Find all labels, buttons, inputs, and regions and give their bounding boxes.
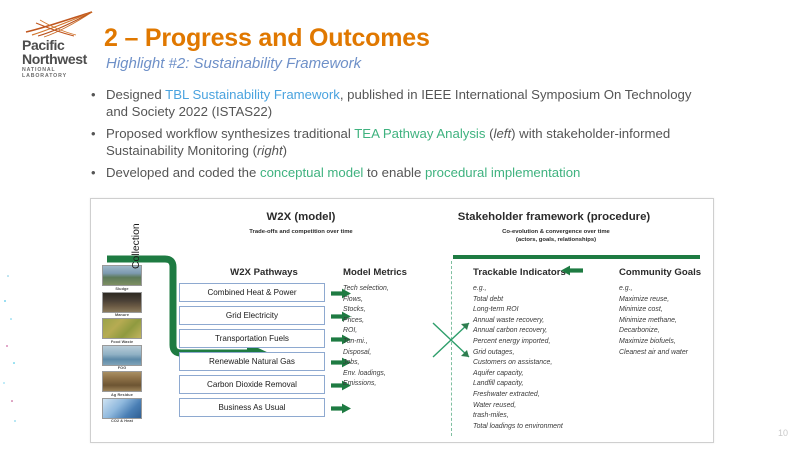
- bullet-text-segment: conceptual model: [260, 165, 363, 180]
- trackable-indicator-item: Customers on assistance,: [473, 358, 633, 369]
- stakeholder-panel-subtitle: Co-evolution & convergence over time (ac…: [451, 228, 661, 244]
- bullet-text-segment: TEA Pathway Analysis: [354, 126, 485, 141]
- feedstock-image: [102, 318, 142, 339]
- trackable-indicator-item: Percent energy imported,: [473, 337, 633, 348]
- community-goal-item: Minimize methane,: [619, 316, 749, 327]
- collection-label: Collection: [131, 223, 142, 269]
- model-metric-item: Disposal,: [343, 348, 443, 359]
- model-metric-item: Emissions,: [343, 379, 443, 390]
- model-metrics-list: Tech selection,Flows,Stocks,Prices,ROI,T…: [343, 284, 443, 390]
- pathway-box[interactable]: Renewable Natural Gas: [179, 352, 325, 371]
- slide-title: 2 – Progress and Outcomes: [104, 24, 430, 53]
- pathway-row: Transportation Fuels: [179, 329, 354, 351]
- green-divider-bar: [453, 255, 700, 259]
- community-goal-item: Maximize reuse,: [619, 295, 749, 306]
- feedstock-label: FOG: [99, 366, 145, 370]
- feedstock-item: FOG: [99, 345, 145, 371]
- pathway-box[interactable]: Combined Heat & Power: [179, 283, 325, 302]
- bullet-text-segment: procedural implementation: [425, 165, 580, 180]
- pathway-arrow-icon: [331, 401, 351, 412]
- pathway-box[interactable]: Grid Electricity: [179, 306, 325, 325]
- bullet-text-segment: ): [283, 143, 287, 158]
- feedstock-image: [102, 371, 142, 392]
- bullet-text-segment: Developed and coded the: [106, 165, 260, 180]
- pathway-box-list: Combined Heat & PowerGrid ElectricityTra…: [179, 283, 354, 421]
- bullet-text-segment: Proposed workflow synthesizes traditiona…: [106, 126, 354, 141]
- bullet-text-segment: (: [485, 126, 493, 141]
- slide-subtitle: Highlight #2: Sustainability Framework: [106, 55, 361, 72]
- bullet-item: •Designed TBL Sustainability Framework, …: [88, 86, 708, 120]
- pathway-box[interactable]: Transportation Fuels: [179, 329, 325, 348]
- bullet-dot-icon: •: [91, 164, 96, 181]
- trackable-indicator-item: Grid outages,: [473, 348, 633, 359]
- pathway-row: Combined Heat & Power: [179, 283, 354, 305]
- convergence-cross-arrows-icon: [429, 317, 475, 363]
- model-metric-item: Tech selection,: [343, 284, 443, 295]
- feedstock-item: Manure: [99, 292, 145, 318]
- pnnl-swoosh-icon: [22, 10, 102, 40]
- model-metric-item: Env. loadings,: [343, 369, 443, 380]
- pathway-row: Business As Usual: [179, 398, 354, 420]
- trackable-indicator-item: Long-term ROI: [473, 305, 633, 316]
- community-goal-item: e.g.,: [619, 284, 749, 295]
- slide-number: 10: [778, 428, 788, 438]
- feedstock-label: Sludge: [99, 287, 145, 291]
- pnnl-logo: Pacific Northwest NATIONAL LABORATORY: [22, 10, 102, 72]
- community-goal-item: Decarbonize,: [619, 326, 749, 337]
- model-metric-item: ROI,: [343, 326, 443, 337]
- bullet-text-segment: left: [494, 126, 512, 141]
- feedstock-image: [102, 292, 142, 313]
- pathways-header: W2X Pathways: [179, 267, 349, 278]
- stakeholder-subtitle-line1: Co-evolution & convergence over time: [502, 229, 610, 235]
- community-goal-item: Minimize cost,: [619, 305, 749, 316]
- logo-text-national-laboratory: NATIONAL LABORATORY: [22, 67, 102, 79]
- feedstock-image: [102, 398, 142, 419]
- model-metrics-header: Model Metrics: [343, 267, 453, 278]
- logo-text-pacific: Pacific: [22, 38, 64, 52]
- model-metric-item: Stocks,: [343, 305, 443, 316]
- model-metric-item: Flows,: [343, 295, 443, 306]
- feedstock-label: Manure: [99, 313, 145, 317]
- trackable-indicator-item: Water reused,: [473, 401, 633, 412]
- pathway-box[interactable]: Carbon Dioxide Removal: [179, 375, 325, 394]
- bullet-text-segment: Designed: [106, 87, 165, 102]
- model-metric-item: Ton-mi.,: [343, 337, 443, 348]
- bullet-list: •Designed TBL Sustainability Framework, …: [88, 86, 708, 186]
- goals-to-indicators-arrow-icon: [561, 265, 583, 276]
- feedstock-item: Food Waste: [99, 318, 145, 344]
- trackable-indicator-item: Total debt: [473, 295, 633, 306]
- feedstock-label: Food Waste: [99, 340, 145, 344]
- bullet-text-segment: to enable: [363, 165, 425, 180]
- feedstock-label: CO2 & Heat: [99, 419, 145, 423]
- strip-divider: [18, 0, 20, 450]
- feedstock-item: CO2 & Heat: [99, 398, 145, 424]
- feedstock-label: Ag Residue: [99, 393, 145, 397]
- w2x-panel-title: W2X (model): [201, 211, 401, 223]
- bullet-item: •Proposed workflow synthesizes tradition…: [88, 125, 708, 159]
- trackable-indicator-item: e.g.,: [473, 284, 633, 295]
- stakeholder-subtitle-line2: (actors, goals, relationships): [516, 237, 596, 243]
- model-metric-item: Prices,: [343, 316, 443, 327]
- bullet-text-segment: right: [257, 143, 283, 158]
- trackable-indicator-item: trash-miles,: [473, 411, 633, 422]
- decorative-edge-strip: [0, 0, 18, 450]
- trackable-indicators-list: e.g.,Total debtLong-term ROIAnnual waste…: [473, 284, 633, 432]
- bullet-dot-icon: •: [91, 86, 96, 103]
- model-metric-item: Jobs,: [343, 358, 443, 369]
- feedstock-image: [102, 345, 142, 366]
- pathway-row: Renewable Natural Gas: [179, 352, 354, 374]
- trackable-indicator-item: Total loadings to environment: [473, 422, 633, 433]
- logo-text-northwest: Northwest: [22, 52, 87, 66]
- trackable-indicator-item: Annual carbon recovery,: [473, 326, 633, 337]
- feedstock-thumbnails: SludgeManureFood WasteFOGAg ResidueCO2 &…: [99, 265, 145, 424]
- trackable-indicator-item: Annual waste recovery,: [473, 316, 633, 327]
- trackable-indicator-item: Freshwater extracted,: [473, 390, 633, 401]
- w2x-panel-subtitle: Trade-offs and competition over time: [171, 228, 431, 236]
- feedstock-item: Ag Residue: [99, 371, 145, 397]
- bullet-text-segment: TBL Sustainability Framework: [165, 87, 340, 102]
- trackable-indicators-header: Trackable Indicators: [473, 267, 623, 278]
- trackable-indicator-item: Landfill capacity,: [473, 379, 633, 390]
- pathway-row: Grid Electricity: [179, 306, 354, 328]
- framework-diagram: W2X (model) Trade-offs and competition o…: [90, 198, 714, 443]
- community-goal-item: Maximize biofuels,: [619, 337, 749, 348]
- bullet-item: •Developed and coded the conceptual mode…: [88, 164, 708, 181]
- community-goals-list: e.g.,Maximize reuse,Minimize cost,Minimi…: [619, 284, 749, 358]
- pathway-row: Carbon Dioxide Removal: [179, 375, 354, 397]
- bullet-dot-icon: •: [91, 125, 96, 142]
- trackable-indicator-item: Aquifer capacity,: [473, 369, 633, 380]
- community-goal-item: Cleanest air and water: [619, 348, 749, 359]
- pathway-box[interactable]: Business As Usual: [179, 398, 325, 417]
- stakeholder-panel-title: Stakeholder framework (procedure): [409, 211, 699, 223]
- community-goals-header: Community Goals: [619, 267, 749, 278]
